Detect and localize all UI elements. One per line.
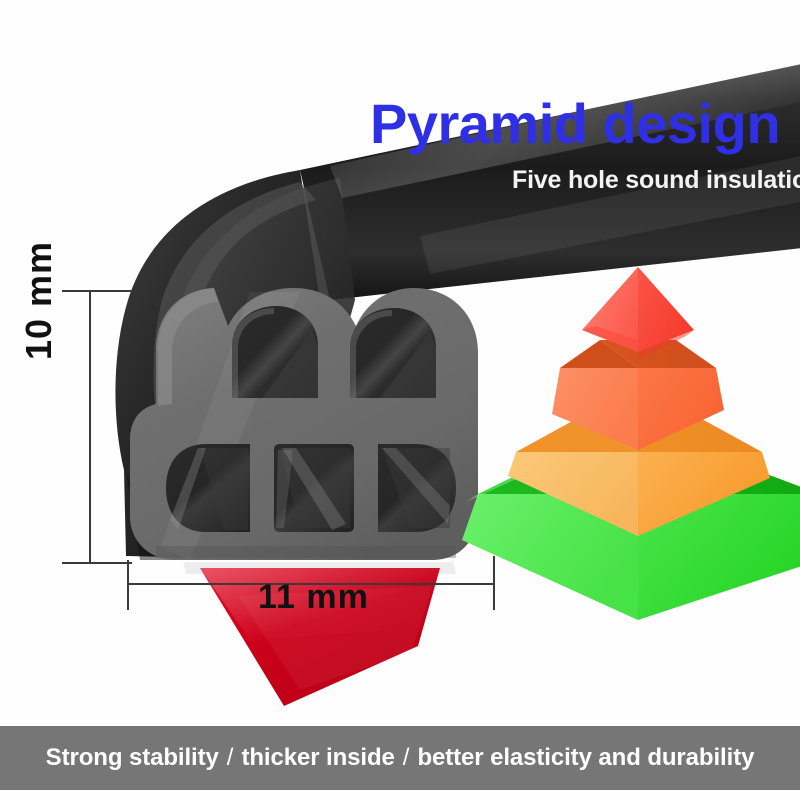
feature-item-3: better elasticity and durability [417, 744, 754, 772]
feature-separator-2: / [395, 744, 418, 772]
infographic-canvas: Pyramid design Five hole sound insulatio… [0, 0, 800, 800]
width-dimension-label: 11 mm [258, 578, 369, 617]
feature-item-1: Strong stability [46, 744, 219, 772]
pyramid-graphic [462, 267, 800, 620]
product-illustration [0, 0, 800, 800]
feature-separator-1: / [219, 744, 242, 772]
height-dimension-label: 10 mm [18, 241, 60, 360]
feature-bar: Strong stability / thicker inside / bett… [0, 726, 800, 790]
seal-cross-section [130, 288, 478, 560]
feature-item-2: thicker inside [241, 744, 394, 772]
